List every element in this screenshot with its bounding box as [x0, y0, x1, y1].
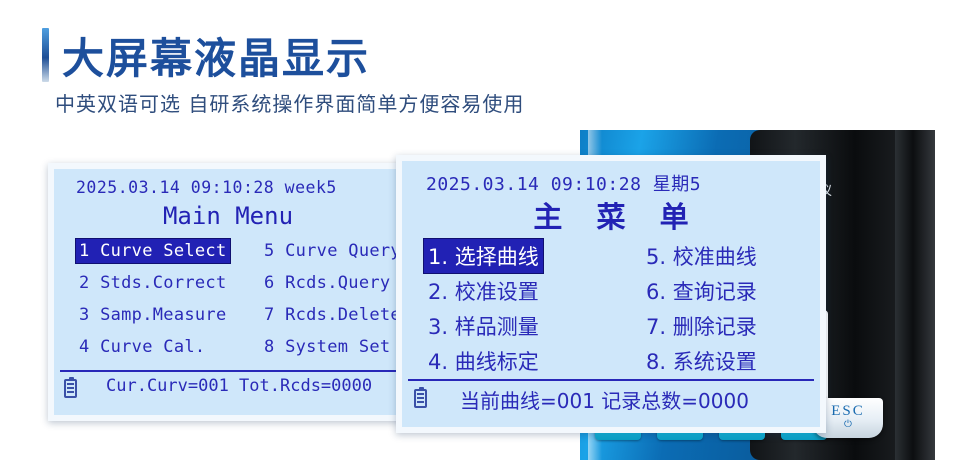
lcd-en-divider [60, 370, 396, 372]
lcd-en-menu-item-1[interactable]: 1 Curve Select [76, 239, 230, 263]
lcd-cn-menu-item-2[interactable]: 2. 校准设置 [424, 274, 543, 308]
lcd-cn-status-line: 2025.03.14 09:10:28 星期5 [402, 170, 820, 196]
lcd-en-menu-item-7[interactable]: 7 Rcds.Delete [261, 303, 402, 327]
lcd-cn-menu-item-3[interactable]: 3. 样品测量 [424, 309, 543, 343]
device-side-edge [895, 130, 935, 460]
lcd-screen-chinese[interactable]: 2025.03.14 09:10:28 星期5 主 菜 单 1. 选择曲线 2.… [396, 155, 826, 433]
lcd-en-menu-item-5[interactable]: 5 Curve Query [261, 239, 402, 263]
lcd-cn-title: 主 菜 单 [402, 194, 820, 236]
page-subtitle: 中英双语可选 自研系统操作界面简单方便容易使用 [55, 88, 524, 117]
lcd-cn-menu-item-8[interactable]: 8. 系统设置 [642, 344, 761, 378]
lcd-en-menu-item-3[interactable]: 3 Samp.Measure [76, 303, 230, 327]
lcd-cn-menu-item-4[interactable]: 4. 曲线标定 [424, 344, 543, 378]
lcd-en-menu-item-4[interactable]: 4 Curve Cal. [76, 335, 208, 359]
lcd-en-menu-item-6[interactable]: 6 Rcds.Query [261, 271, 393, 295]
lcd-en-menu-item-2[interactable]: 2 Stds.Correct [76, 271, 230, 295]
battery-icon [414, 389, 427, 408]
lcd-cn-menu-item-1[interactable]: 1. 选择曲线 [424, 239, 543, 273]
title-accent-bar [42, 28, 49, 82]
lcd-en-status-line: 2025.03.14 09:10:28 week5 [54, 178, 402, 197]
lcd-screen-english[interactable]: 2025.03.14 09:10:28 week5 Main Menu 1 Cu… [48, 163, 408, 421]
lcd-en-footer: Cur.Curv=001 Tot.Rcds=0000 [106, 376, 372, 396]
header: 大屏幕液晶显示 中英双语可选 自研系统操作界面简单方便容易使用 [0, 0, 980, 130]
lcd-cn-divider [408, 379, 814, 381]
page-title: 大屏幕液晶显示 [62, 25, 370, 86]
lcd-en-menu-item-8[interactable]: 8 System Set [261, 335, 393, 359]
lcd-cn-menu-item-6[interactable]: 6. 查询记录 [642, 274, 761, 308]
lcd-cn-footer: 当前曲线=001 记录总数=0000 [460, 385, 749, 414]
lcd-cn-menu-item-7[interactable]: 7. 删除记录 [642, 309, 761, 343]
lcd-cn-menu-item-5[interactable]: 5. 校准曲线 [642, 239, 761, 273]
battery-icon [64, 379, 77, 398]
lcd-en-title: Main Menu [54, 202, 402, 230]
